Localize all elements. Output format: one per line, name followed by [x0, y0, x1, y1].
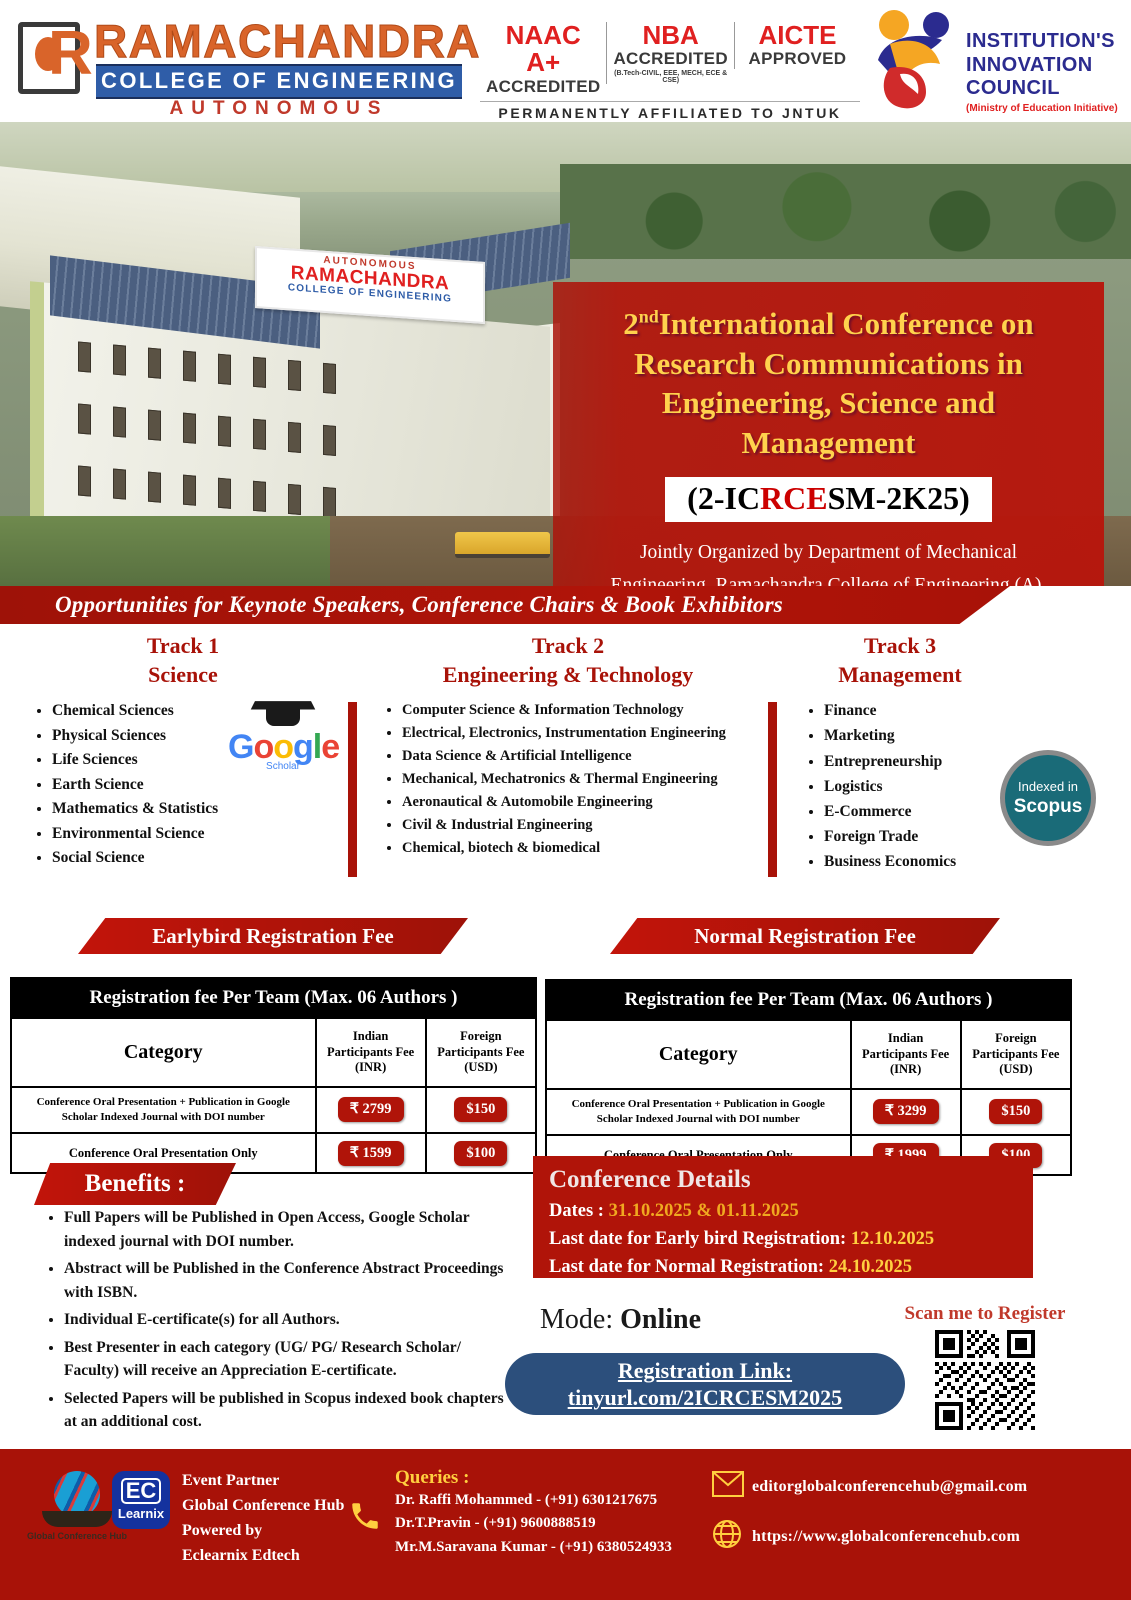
- list-item: Electrical, Electronics, Instrumentation…: [402, 722, 768, 744]
- earlybird-row-2-inr: ₹ 1599: [316, 1133, 426, 1174]
- track-1-heading: Track 1 Science: [18, 632, 348, 689]
- earlybird-deadline-label: Last date for Early bird Registration:: [549, 1229, 851, 1249]
- college-autonomous-label: AUTONOMOUS: [96, 98, 462, 120]
- dates-value: 31.10.2025 & 01.11.2025: [609, 1201, 799, 1221]
- list-item: Full Papers will be Published in Open Ac…: [64, 1206, 504, 1253]
- earlybird-table-title: Registration fee Per Team (Max. 06 Autho…: [11, 978, 536, 1018]
- conference-acronym: (2-ICRCESM-2K25): [665, 477, 992, 522]
- col-indian-l3: (INR): [890, 1062, 921, 1076]
- acronym-suffix: SM-2K25): [828, 480, 970, 516]
- list-item: Logistics: [824, 775, 1010, 799]
- price-badge: $100: [454, 1141, 507, 1166]
- hero-window-row: [78, 403, 336, 456]
- row1-cat-l1: Conference Oral Presentation + Publicati…: [572, 1098, 825, 1110]
- row1-cat-l2: Scholar Indexed Journal with DOI number: [597, 1113, 800, 1125]
- hero-bus: [455, 532, 550, 558]
- normal-col-category: Category: [546, 1020, 851, 1089]
- list-item: Foreign Trade: [824, 825, 1010, 849]
- college-subtitle: COLLEGE OF ENGINEERING: [96, 64, 462, 99]
- conference-ordinal: 2: [623, 306, 639, 341]
- iic-ministry-note: (Ministry of Education Initiative): [966, 103, 1118, 114]
- benefits-heading: Benefits :: [85, 1170, 186, 1198]
- table-row: Registration fee Per Team (Max. 06 Autho…: [546, 980, 1071, 1020]
- normal-deadline-value: 24.10.2025: [829, 1257, 912, 1277]
- list-item: Marketing: [824, 724, 1010, 748]
- normal-table-title: Registration fee Per Team (Max. 06 Autho…: [546, 980, 1071, 1020]
- eclearnix-mark: EC: [121, 1478, 161, 1504]
- earlybird-row-1-usd: $150: [426, 1087, 536, 1133]
- earlybird-row-1-category: Conference Oral Presentation + Publicati…: [11, 1087, 316, 1133]
- query-contact-2: Dr.T.Pravin - (+91) 9600888519: [395, 1512, 672, 1535]
- earlybird-row-2-usd: $100: [426, 1133, 536, 1174]
- organized-line-2: Engineering, Ramachandra College of Engi…: [611, 575, 1047, 586]
- conference-title-line-4: Management: [742, 425, 916, 460]
- col-foreign-l2: Participants Fee: [437, 1045, 524, 1059]
- col-foreign-l2: Participants Fee: [972, 1047, 1059, 1061]
- price-badge: $150: [989, 1099, 1042, 1124]
- track-3-heading: Track 3 Management: [790, 632, 1010, 689]
- price-badge: ₹ 3299: [873, 1099, 939, 1124]
- naac-label: NAAC A+: [486, 22, 600, 77]
- earlybird-deadline-line: Last date for Early bird Registration: 1…: [549, 1229, 1017, 1250]
- google-scholar-logo: Google Scholar: [228, 700, 338, 772]
- organized-line-1: Jointly Organized by Department of Mecha…: [640, 542, 1017, 563]
- earlybird-deadline-value: 12.10.2025: [851, 1229, 934, 1249]
- normal-deadline-line: Last date for Normal Registration: 24.10…: [549, 1257, 1017, 1278]
- conference-title-line-1: International Conference on: [659, 306, 1034, 341]
- hero-lawn: [0, 516, 330, 586]
- nba-sub: ACCREDITED: [613, 49, 727, 69]
- mode-label: Mode:: [540, 1304, 620, 1335]
- table-row: Category Indian Participants Fee (INR) F…: [11, 1018, 536, 1087]
- list-item: Civil & Industrial Engineering: [402, 814, 768, 836]
- scan-me-text: Scan me to Register: [890, 1303, 1080, 1325]
- scopus-badge-line-2: Scopus: [1014, 796, 1083, 818]
- list-item: Business Economics: [824, 850, 1010, 874]
- normal-col-indian: Indian Participants Fee (INR): [851, 1020, 961, 1089]
- registration-link-label: Registration Link:: [618, 1358, 792, 1384]
- track-2-list: Computer Science & Information Technolog…: [368, 699, 768, 859]
- normal-row-1-usd: $150: [961, 1089, 1071, 1135]
- registration-link-button[interactable]: Registration Link: tinyurl.com/2ICRCESM2…: [505, 1353, 905, 1415]
- website-row[interactable]: https://www.globalconferencehub.com: [712, 1519, 1027, 1555]
- contacts-block: editorglobalconferencehub@gmail.com http…: [712, 1471, 1027, 1571]
- list-item: Abstract will be Published in the Confer…: [64, 1257, 504, 1304]
- email-row[interactable]: editorglobalconferencehub@gmail.com: [712, 1471, 1027, 1503]
- nba-label: NBA: [613, 22, 727, 49]
- list-item: Environmental Science: [52, 822, 348, 846]
- conference-title-line-3: Engineering, Science and: [662, 385, 995, 420]
- price-badge: $150: [454, 1097, 507, 1122]
- list-item: Social Science: [52, 846, 348, 870]
- eclearnix-wordmark: Learnix: [112, 1506, 170, 1521]
- graduation-cap-icon: [251, 701, 316, 709]
- iic-line-1: INSTITUTION'S: [966, 30, 1118, 54]
- naac-sub: ACCREDITED: [486, 77, 600, 97]
- list-item: Mechanical, Mechatronics & Thermal Engin…: [402, 768, 768, 790]
- tracks-section: Track 1 Science Chemical Sciences Physic…: [0, 632, 1131, 917]
- track-1-name: Science: [148, 662, 218, 687]
- earlybird-row-1-inr: ₹ 2799: [316, 1087, 426, 1133]
- college-name: RAMACHANDRA: [94, 14, 481, 68]
- list-item: E-Commerce: [824, 800, 1010, 824]
- query-contact-1: Dr. Raffi Mohammed - (+91) 6301217675: [395, 1489, 672, 1512]
- normal-row-1-inr: ₹ 3299: [851, 1089, 961, 1135]
- normal-deadline-label: Last date for Normal Registration:: [549, 1257, 829, 1277]
- gch-logo-caption: Global Conference Hub: [22, 1531, 132, 1541]
- earlybird-col-indian: Indian Participants Fee (INR): [316, 1018, 426, 1087]
- conference-title: 2ndInternational Conference on Research …: [573, 304, 1084, 463]
- conference-title-line-2: Research Communications in: [634, 346, 1023, 381]
- conference-details-panel: Conference Details Dates : 31.10.2025 & …: [533, 1156, 1033, 1278]
- iic-emblem-icon: [868, 8, 963, 112]
- track-2-heading: Track 2 Engineering & Technology: [368, 632, 768, 689]
- registration-qr-code[interactable]: [935, 1330, 1035, 1430]
- accreditation-block: NAAC A+ ACCREDITED NBA ACCREDITED (B.Tec…: [480, 22, 860, 121]
- track-3-name: Management: [838, 662, 961, 687]
- list-item: Best Presenter in each category (UG/ PG/…: [64, 1336, 504, 1383]
- earlybird-fee-ribbon: Earlybird Registration Fee: [78, 918, 468, 954]
- registration-link-url: tinyurl.com/2ICRCESM2025: [568, 1385, 842, 1411]
- earlybird-col-category: Category: [11, 1018, 316, 1087]
- track-3-list: Finance Marketing Entrepreneurship Logis…: [790, 699, 1010, 874]
- conference-title-panel: 2ndInternational Conference on Research …: [553, 282, 1104, 586]
- list-item: Finance: [824, 699, 1010, 723]
- conference-dates-line: Dates : 31.10.2025 & 01.11.2025: [549, 1201, 1017, 1222]
- nba-branches: (B.Tech-CIVIL, EEE, MECH, ECE & CSE): [613, 70, 727, 84]
- opportunities-banner: Opportunities for Keynote Speakers, Conf…: [0, 586, 1010, 624]
- list-item: Entrepreneurship: [824, 750, 1010, 774]
- conference-details-heading: Conference Details: [549, 1166, 1017, 1194]
- col-indian-l1: Indian: [888, 1031, 923, 1045]
- track-2-number: Track 2: [532, 633, 604, 658]
- normal-fee-ribbon-text: Normal Registration Fee: [694, 924, 916, 949]
- table-row: Conference Oral Presentation + Publicati…: [546, 1089, 1071, 1135]
- earlybird-fee-ribbon-text: Earlybird Registration Fee: [152, 924, 393, 949]
- accreditation-nba: NBA ACCREDITED (B.Tech-CIVIL, EEE, MECH,…: [606, 22, 733, 84]
- contact-email: editorglobalconferencehub@gmail.com: [752, 1478, 1027, 1496]
- acronym-rce: RCE: [760, 480, 828, 516]
- col-foreign-l3: (USD): [464, 1060, 497, 1074]
- list-item: Earth Science: [52, 773, 348, 797]
- event-partner-block: Event Partner Global Conference Hub Powe…: [182, 1469, 344, 1569]
- normal-fee-ribbon: Normal Registration Fee: [610, 918, 1000, 954]
- list-item: Computer Science & Information Technolog…: [402, 699, 768, 721]
- iic-line-2: INNOVATION: [966, 54, 1118, 78]
- col-foreign-l3: (USD): [999, 1062, 1032, 1076]
- aicte-label: AICTE: [741, 22, 854, 49]
- hero-window-row: [78, 341, 336, 394]
- scopus-badge-line-1: Indexed in: [1018, 779, 1078, 794]
- normal-col-foreign: Foreign Participants Fee (USD): [961, 1020, 1071, 1089]
- mode-line: Mode: Online: [540, 1304, 701, 1336]
- powered-by-name: Eclearnix Edtech: [182, 1544, 344, 1569]
- col-indian-l1: Indian: [353, 1029, 388, 1043]
- event-partner-name: Global Conference Hub: [182, 1494, 344, 1519]
- globe-wireframe-icon: [712, 1519, 752, 1555]
- page-footer: Global Conference Hub EC Learnix Event P…: [0, 1449, 1131, 1600]
- list-item: Selected Papers will be published in Sco…: [64, 1387, 504, 1434]
- queries-heading: Queries :: [395, 1467, 672, 1489]
- event-partner-label: Event Partner: [182, 1469, 344, 1494]
- track-3: Track 3 Management Finance Marketing Ent…: [790, 632, 1010, 875]
- track-divider-1: [348, 702, 357, 877]
- table-row: Category Indian Participants Fee (INR) F…: [546, 1020, 1071, 1089]
- iic-line-3: COUNCIL: [966, 77, 1118, 101]
- hero-treeline: [560, 164, 1131, 259]
- track-3-number: Track 3: [864, 633, 936, 658]
- col-indian-l2: Participants Fee: [862, 1047, 949, 1061]
- scopus-indexed-badge: Indexed in Scopus: [1000, 750, 1096, 846]
- price-badge: ₹ 2799: [338, 1097, 404, 1122]
- track-2: Track 2 Engineering & Technology Compute…: [368, 632, 768, 860]
- list-item: Chemical, biotech & biomedical: [402, 837, 768, 859]
- col-indian-l2: Participants Fee: [327, 1045, 414, 1059]
- list-item: Aeronautical & Automobile Engineering: [402, 791, 768, 813]
- organized-by-text: Jointly Organized by Department of Mecha…: [573, 536, 1084, 586]
- powered-by-label: Powered by: [182, 1519, 344, 1544]
- envelope-icon: [712, 1471, 752, 1503]
- opportunities-banner-text: Opportunities for Keynote Speakers, Conf…: [55, 592, 783, 618]
- conference-ordinal-suffix: nd: [639, 307, 659, 327]
- mode-value: Online: [620, 1304, 701, 1335]
- col-foreign-l1: Foreign: [995, 1031, 1036, 1045]
- col-foreign-l1: Foreign: [460, 1029, 501, 1043]
- graduation-cap-base-icon: [266, 708, 300, 726]
- hero-campus-photo: AUTONOMOUS RAMACHANDRA COLLEGE OF ENGINE…: [0, 122, 1131, 586]
- col-indian-l3: (INR): [355, 1060, 386, 1074]
- track-2-name: Engineering & Technology: [443, 662, 694, 687]
- affiliation-text: PERMANENTLY AFFILIATED TO JNTUK: [480, 101, 860, 121]
- accreditation-naac: NAAC A+ ACCREDITED: [480, 22, 606, 97]
- phone-icon: [348, 1499, 382, 1533]
- earlybird-fee-table: Registration fee Per Team (Max. 06 Autho…: [10, 977, 537, 1174]
- contact-website: https://www.globalconferencehub.com: [752, 1528, 1020, 1546]
- accreditation-aicte: AICTE APPROVED: [734, 22, 860, 69]
- acronym-prefix: (2-IC: [687, 480, 760, 516]
- earlybird-col-foreign: Foreign Participants Fee (USD): [426, 1018, 536, 1087]
- benefits-ribbon: Benefits :: [34, 1163, 236, 1205]
- iic-logo-block: INSTITUTION'S INNOVATION COUNCIL (Minist…: [868, 8, 1123, 116]
- table-row: Conference Oral Presentation + Publicati…: [11, 1087, 536, 1133]
- list-item: Mathematics & Statistics: [52, 797, 348, 821]
- college-monogram-icon: R: [48, 18, 90, 89]
- aicte-sub: APPROVED: [741, 49, 854, 69]
- benefits-list: Full Papers will be Published in Open Ac…: [34, 1206, 504, 1438]
- track-1-number: Track 1: [147, 633, 219, 658]
- track-divider-2: [768, 702, 777, 877]
- hero-window-row: [78, 465, 336, 518]
- eclearnix-logo: EC Learnix: [112, 1471, 170, 1529]
- normal-row-1-category: Conference Oral Presentation + Publicati…: [546, 1089, 851, 1135]
- query-contact-3: Mr.M.Saravana Kumar - (+91) 6380524933: [395, 1536, 672, 1559]
- dates-label: Dates :: [549, 1201, 609, 1221]
- price-badge: ₹ 1599: [338, 1141, 404, 1166]
- normal-fee-table: Registration fee Per Team (Max. 06 Autho…: [545, 979, 1072, 1176]
- list-item: Data Science & Artificial Intelligence: [402, 745, 768, 767]
- page-header: R RAMACHANDRA COLLEGE OF ENGINEERING AUT…: [0, 0, 1131, 122]
- row1-cat-l2: Scholar Indexed Journal with DOI number: [62, 1111, 265, 1123]
- table-row: Registration fee Per Team (Max. 06 Autho…: [11, 978, 536, 1018]
- row1-cat-l1: Conference Oral Presentation + Publicati…: [37, 1096, 290, 1108]
- hand-icon: [42, 1511, 112, 1527]
- queries-block: Queries : Dr. Raffi Mohammed - (+91) 630…: [395, 1467, 672, 1559]
- list-item: Individual E-certificate(s) for all Auth…: [64, 1308, 504, 1332]
